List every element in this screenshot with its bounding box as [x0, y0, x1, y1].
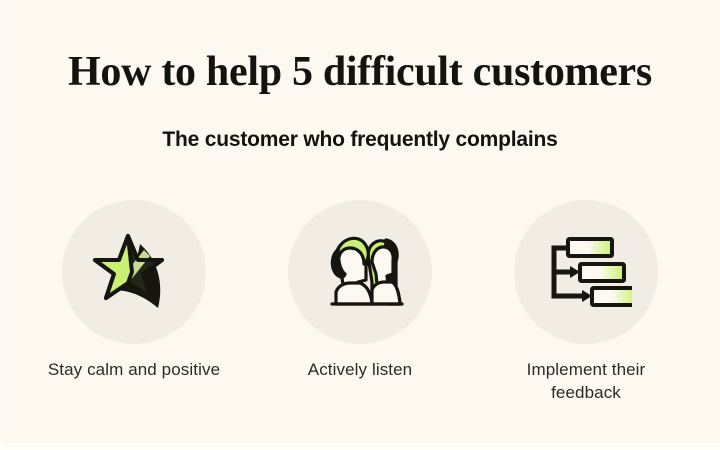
- page-subtitle: The customer who frequently complains: [0, 126, 720, 154]
- two-people-listening-icon: [314, 226, 406, 318]
- bottom-edge-strip: [0, 443, 720, 450]
- tip-card-implement-feedback: Implement their feedback: [480, 200, 692, 404]
- icon-circle-1: [62, 200, 206, 344]
- slide-canvas: How to help 5 difficult customers The cu…: [0, 0, 720, 450]
- tip-card-actively-listen: Actively listen: [254, 200, 466, 381]
- shooting-star-icon: [88, 226, 180, 318]
- tip-caption-1: Stay calm and positive: [48, 358, 220, 381]
- tips-row: Stay calm and positive: [28, 200, 692, 404]
- tip-caption-3: Implement their feedback: [491, 358, 681, 404]
- tip-caption-2: Actively listen: [308, 358, 412, 381]
- tip-card-stay-calm: Stay calm and positive: [28, 200, 240, 381]
- icon-circle-2: [288, 200, 432, 344]
- icon-circle-3: [514, 200, 658, 344]
- page-title: How to help 5 difficult customers: [0, 48, 720, 96]
- workflow-chart-icon: [540, 226, 632, 318]
